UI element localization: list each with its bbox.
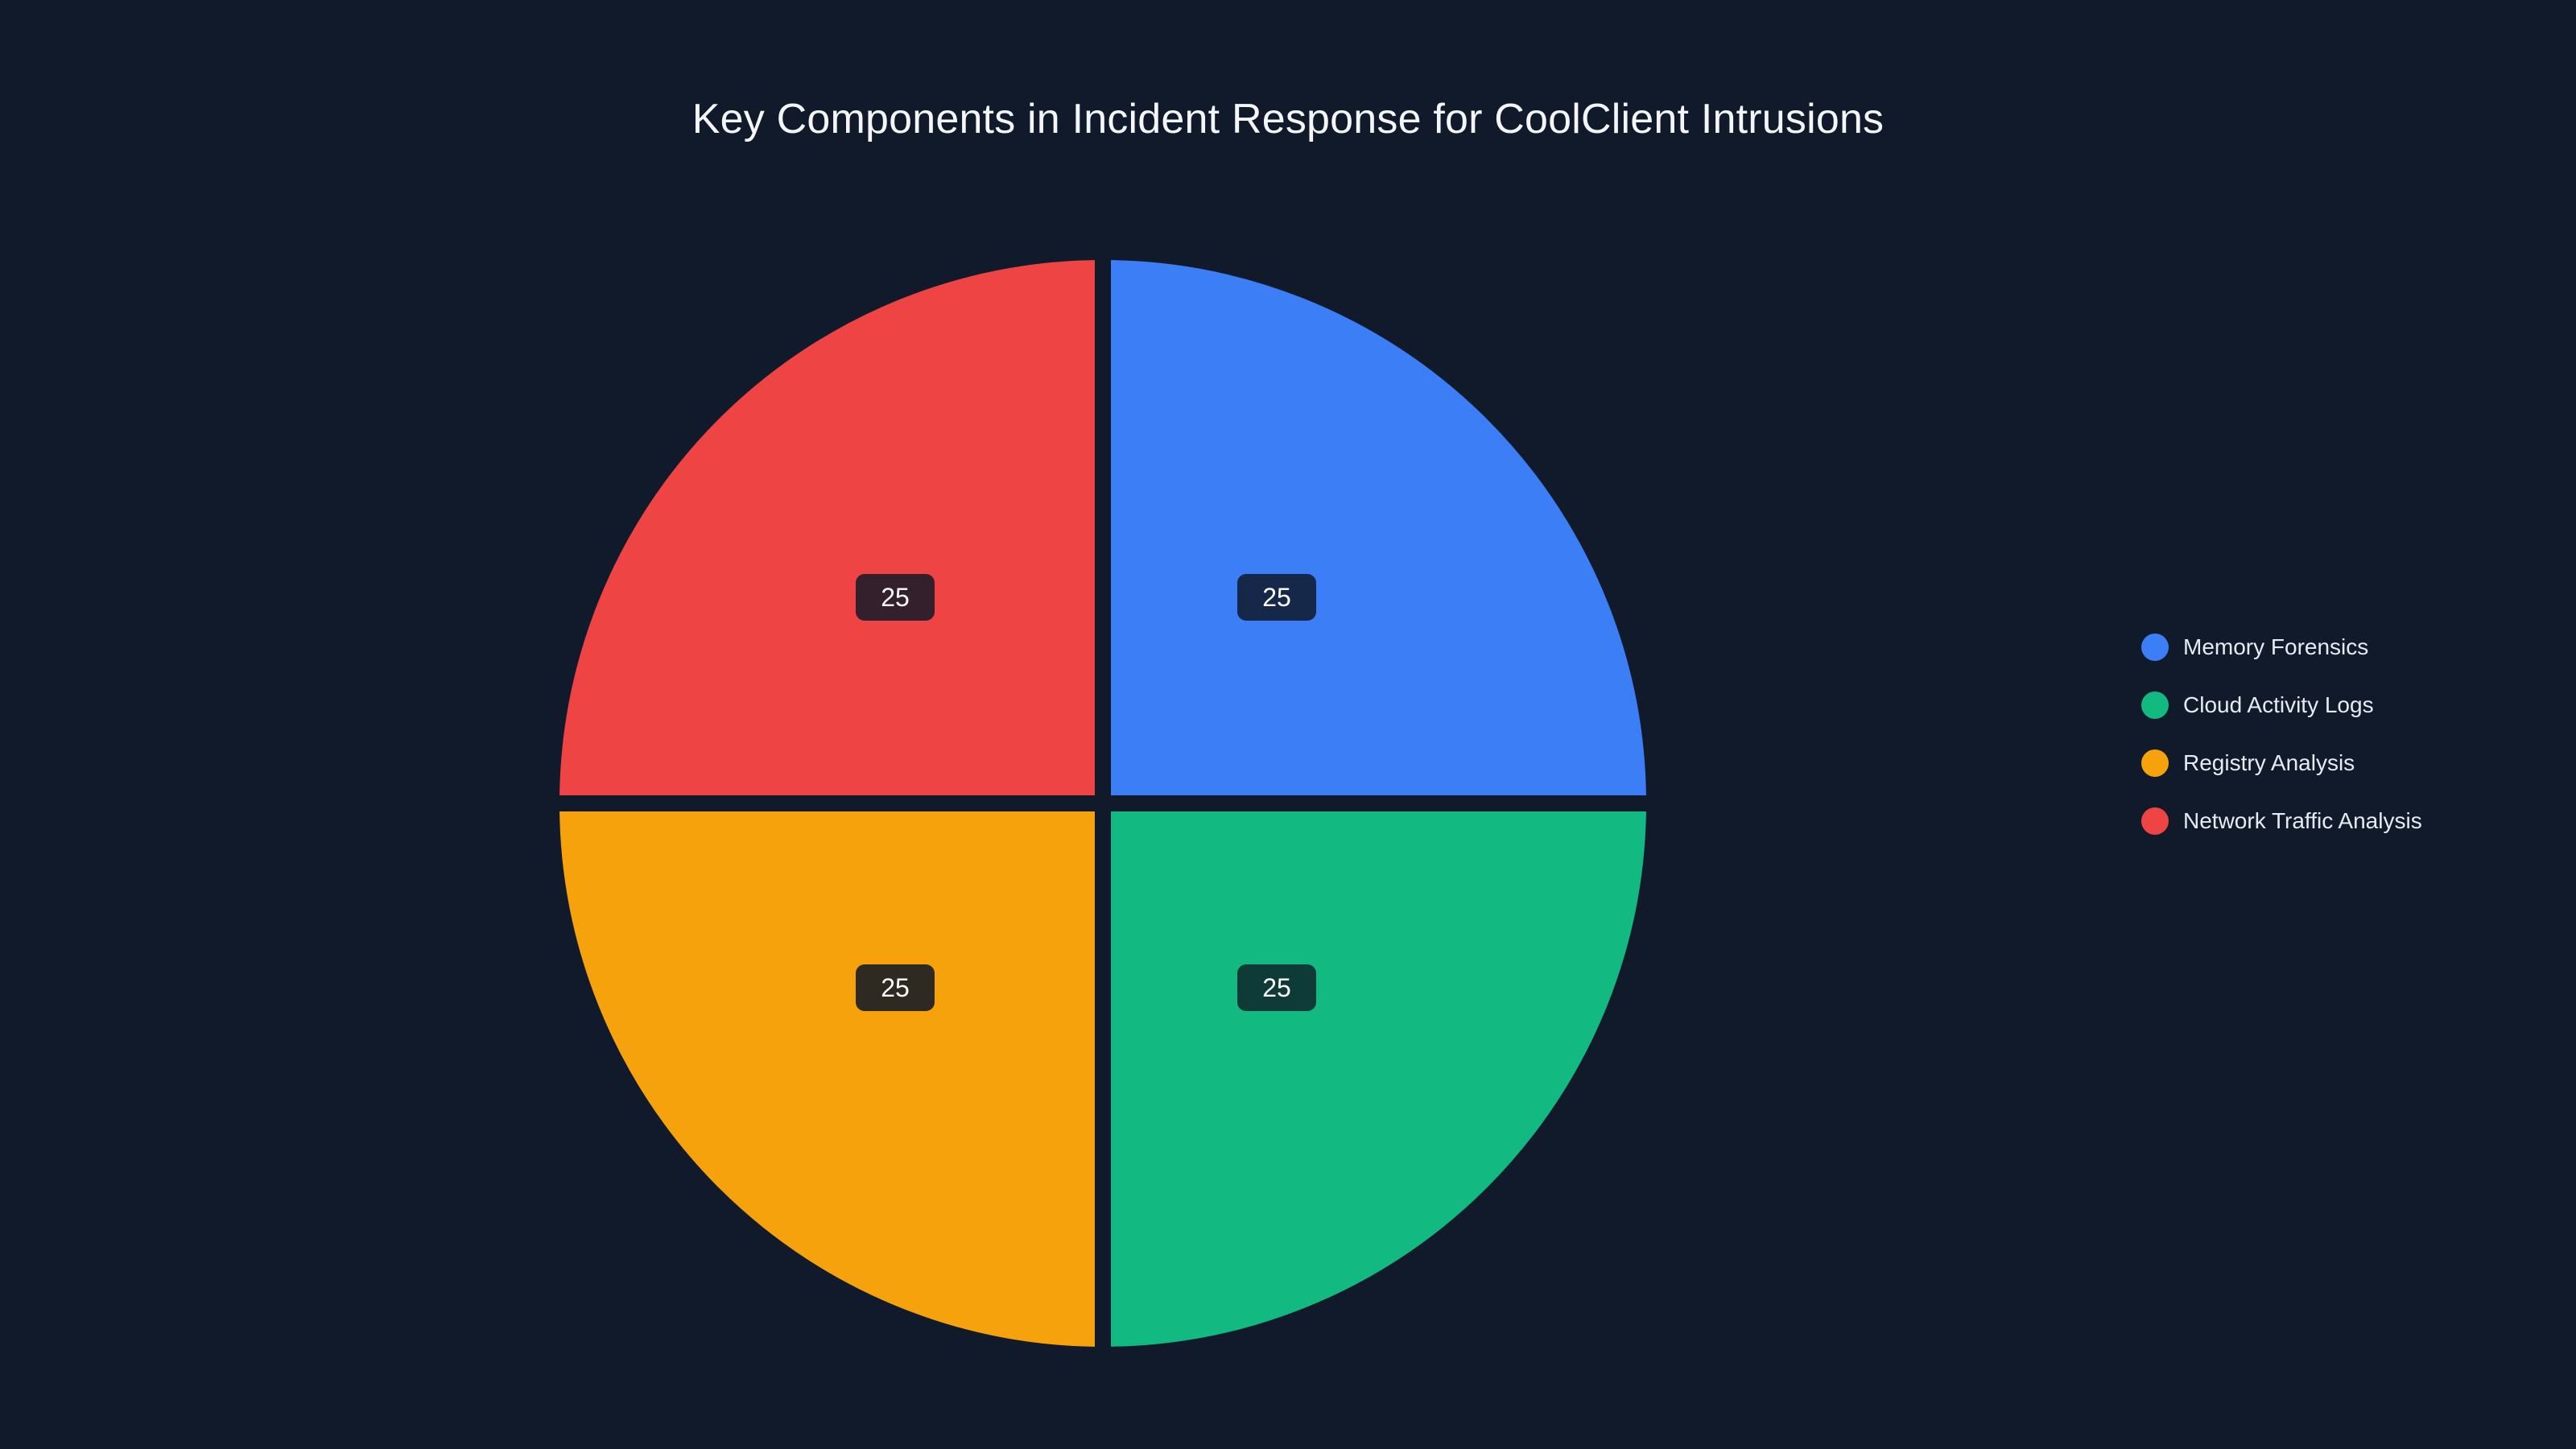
chart-title: Key Components in Incident Response for … (0, 97, 2576, 142)
legend-item[interactable]: Registry Analysis (2141, 734, 2544, 792)
pie-slice-group (551, 252, 1654, 1355)
legend-item[interactable]: Network Traffic Analysis (2141, 792, 2544, 850)
legend-item-label: Network Traffic Analysis (2183, 810, 2422, 832)
legend-item[interactable]: Cloud Activity Logs (2141, 676, 2544, 734)
pie-plot-area: 25252525 (551, 252, 1654, 1355)
legend-swatch-circle-icon (2141, 691, 2169, 719)
pie-slice[interactable] (551, 252, 1103, 803)
pie-chart-figure: Key Components in Incident Response for … (0, 0, 2576, 1449)
legend-swatch-circle-icon (2141, 634, 2169, 661)
legend-item-label: Memory Forensics (2183, 636, 2368, 658)
chart-legend: Memory ForensicsCloud Activity LogsRegis… (2141, 618, 2544, 850)
legend-item[interactable]: Memory Forensics (2141, 618, 2544, 676)
pie-slice-value-label: 25 (856, 574, 935, 621)
legend-swatch-circle-icon (2141, 749, 2169, 777)
pie-slice[interactable] (551, 803, 1103, 1355)
pie-slice-value-label: 25 (1237, 964, 1316, 1011)
pie-slice[interactable] (1103, 252, 1654, 803)
legend-item-label: Cloud Activity Logs (2183, 694, 2374, 716)
pie-slice-value-label: 25 (1237, 574, 1316, 621)
legend-swatch-circle-icon (2141, 807, 2169, 835)
pie-slice[interactable] (1103, 803, 1654, 1355)
legend-item-label: Registry Analysis (2183, 752, 2355, 774)
pie-svg (551, 252, 1654, 1355)
pie-slice-value-label: 25 (856, 964, 935, 1011)
